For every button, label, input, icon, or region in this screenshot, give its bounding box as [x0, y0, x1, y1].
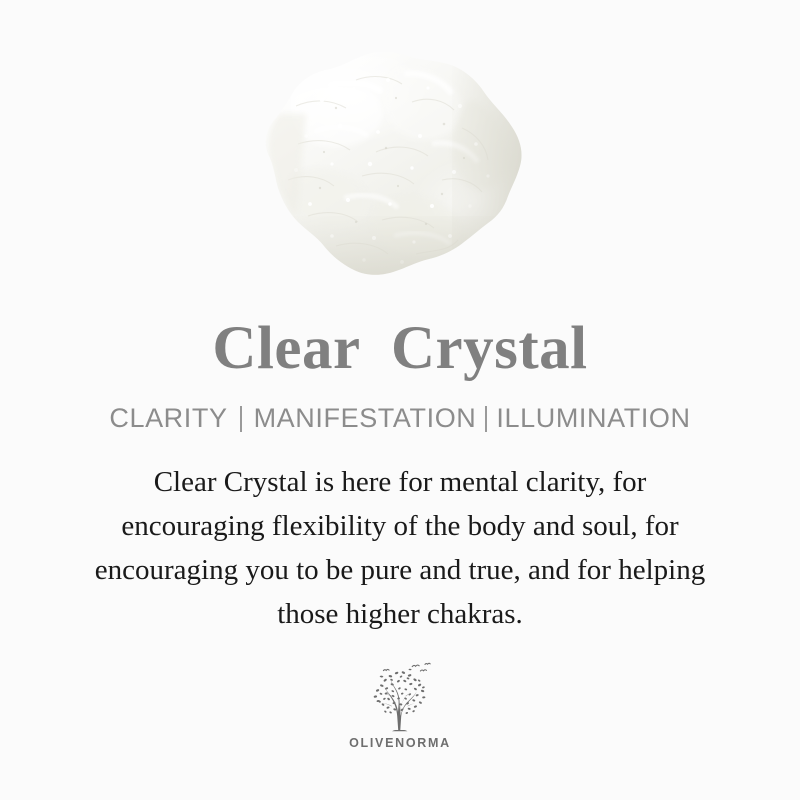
raw-crystal-chunk-icon — [236, 40, 538, 290]
keyword-separator-icon — [485, 406, 487, 432]
olive-tree-logo-icon — [357, 660, 443, 734]
keyword-subtitle: CLARITY MANIFESTATION ILLUMINATION — [109, 405, 690, 432]
keyword-separator-icon — [240, 406, 242, 432]
crystal-info-card: Clear Crystal CLARITY MANIFESTATION ILLU… — [0, 0, 800, 800]
keyword-clarity: CLARITY — [109, 405, 227, 432]
description-text: Clear Crystal is here for mental clarity… — [40, 460, 760, 636]
brand-logo: OLIVENORMA — [349, 660, 451, 750]
description-line: Clear Crystal is here for mental clarity… — [40, 460, 760, 504]
description-line: encouraging flexibility of the body and … — [40, 504, 760, 548]
description-line: those higher chakras. — [40, 592, 760, 636]
brand-name: OLIVENORMA — [349, 736, 451, 750]
page-title: Clear Crystal — [212, 318, 587, 379]
description-line: encouraging you to be pure and true, and… — [40, 548, 760, 592]
product-image — [236, 40, 538, 290]
keyword-manifestation: MANIFESTATION — [254, 405, 477, 432]
product-image-stage — [0, 0, 800, 318]
keyword-illumination: ILLUMINATION — [496, 405, 690, 432]
